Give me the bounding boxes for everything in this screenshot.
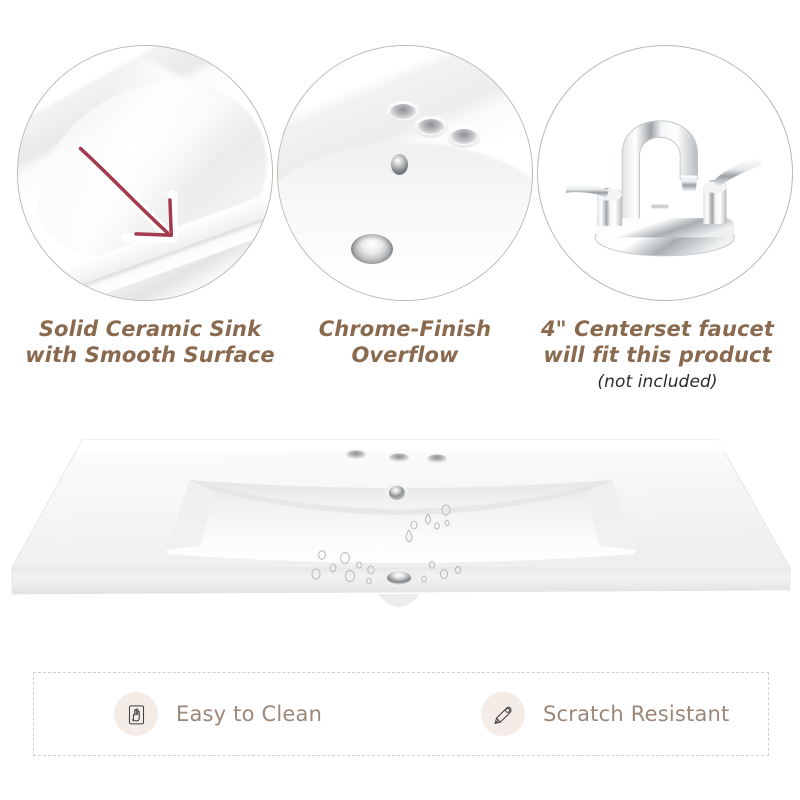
caption-chrome-overflow: Chrome-Finish Overflow — [290, 316, 520, 368]
caption-line-2: will fit this product — [543, 343, 771, 367]
feature-easy-to-clean: Easy to Clean — [34, 692, 401, 736]
caption-line-1: Chrome-Finish — [319, 317, 491, 341]
hero-sink-image — [0, 418, 800, 648]
detail-captions-row: Solid Ceramic Sink with Smooth Surface C… — [0, 316, 800, 412]
red-arrow-icon — [69, 135, 211, 257]
feature-scratch-resistant: Scratch Resistant — [401, 692, 768, 736]
caption-line-2: Overflow — [351, 343, 458, 367]
detail-circle-chrome-overflow — [277, 45, 533, 301]
caption-line-1: 4" Centerset faucet — [541, 317, 774, 341]
chrome-faucet-icon — [558, 71, 771, 274]
caption-note-not-included: (not included) — [515, 371, 800, 393]
detail-circles-row — [0, 0, 800, 310]
detail-circle-centerset-faucet — [537, 45, 793, 301]
caption-ceramic-surface: Solid Ceramic Sink with Smooth Surface — [5, 316, 295, 368]
faucet-hole-2 — [418, 119, 444, 134]
faucet-hole-3 — [451, 129, 477, 144]
ceramic-surface-photo — [17, 45, 273, 301]
product-infographic: Solid Ceramic Sink with Smooth Surface C… — [0, 0, 800, 800]
pen-scratch-icon — [481, 692, 525, 736]
sink-illustration — [0, 418, 800, 648]
chrome-overflow-photo — [277, 45, 533, 301]
feature-label: Scratch Resistant — [543, 702, 729, 726]
feature-label: Easy to Clean — [176, 702, 322, 726]
caption-centerset-faucet: 4" Centerset faucet will fit this produc… — [515, 316, 800, 393]
chrome-overflow-cap — [391, 154, 408, 175]
caption-line-2: with Smooth Surface — [25, 343, 274, 367]
caption-line-1: Solid Ceramic Sink — [39, 317, 261, 341]
drain-hole — [351, 234, 393, 264]
hand-wipe-cloth-icon — [114, 692, 158, 736]
feature-bar: Easy to Clean Scratch Resistant — [33, 672, 769, 756]
detail-circle-ceramic-surface — [17, 45, 273, 301]
faucet-hole-1 — [390, 104, 416, 119]
centerset-faucet-photo — [537, 45, 793, 301]
